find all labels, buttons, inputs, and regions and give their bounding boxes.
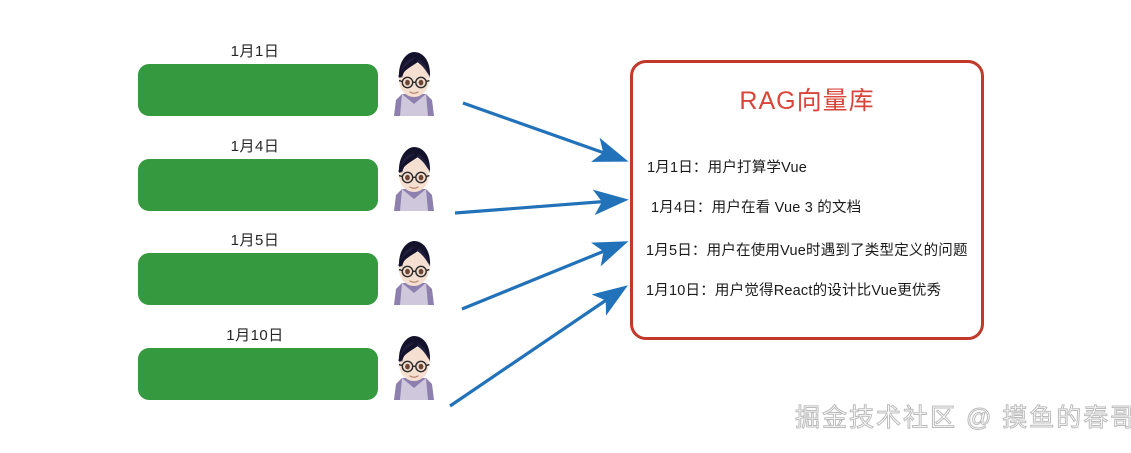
rag-entry-day1: 1月1日：用户打算学Vue (647, 156, 807, 177)
arrow-day10-to-rag (450, 288, 624, 406)
user-avatar-day10 (388, 328, 440, 400)
user-avatar-day4 (388, 139, 440, 211)
diagram-canvas: 1月1日 (0, 0, 1131, 453)
chat-message-bubble-day10[interactable] (138, 348, 378, 400)
user-avatar-day1 (388, 44, 440, 116)
date-label-day1: 1月1日 (130, 40, 380, 61)
rag-entry-day4: 1月4日：用户在看 Vue 3 的文档 (651, 196, 861, 217)
arrow-day5-to-rag (462, 243, 624, 309)
chat-message-bubble-day1[interactable] (138, 64, 378, 116)
watermark-text: 掘金技术社区 @ 摸鱼的春哥 (795, 398, 1131, 434)
user-avatar-day5 (388, 233, 440, 305)
arrow-day4-to-rag (455, 200, 624, 213)
date-label-day4: 1月4日 (130, 135, 380, 156)
date-label-day5: 1月5日 (130, 229, 380, 250)
arrow-day1-to-rag (463, 103, 624, 160)
chat-message-bubble-day5[interactable] (138, 253, 378, 305)
rag-entry-day10: 1月10日：用户觉得React的设计比Vue更优秀 (646, 279, 941, 300)
rag-entry-day5: 1月5日：用户在使用Vue时遇到了类型定义的问题 (646, 239, 968, 260)
chat-message-bubble-day4[interactable] (138, 159, 378, 211)
rag-vector-store-box: RAG向量库 1月1日：用户打算学Vue 1月4日：用户在看 Vue 3 的文档… (630, 60, 984, 340)
rag-box-title: RAG向量库 (633, 81, 981, 117)
date-label-day10: 1月10日 (130, 324, 380, 345)
